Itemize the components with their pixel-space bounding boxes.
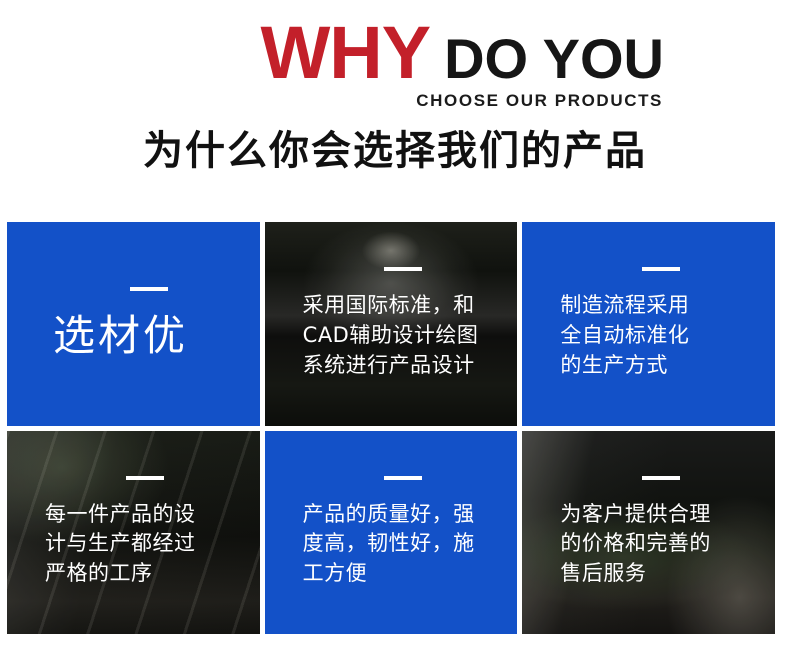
divider-dash-icon (384, 267, 422, 271)
headline-why: WHY (260, 16, 430, 90)
feature-card-process[interactable]: 每一件产品的设 计与生产都经过 严格的工序 (7, 431, 260, 635)
banner-header: WHY DO YOU CHOOSE OUR PRODUCTS 为什么你会选择我们… (0, 0, 790, 212)
divider-dash-icon (126, 476, 164, 480)
feature-card-text: 产品的质量好，强 度高，韧性好，施 工方便 (303, 500, 504, 589)
promo-banner: WHY DO YOU CHOOSE OUR PRODUCTS 为什么你会选择我们… (0, 0, 790, 665)
divider-dash-icon (642, 267, 680, 271)
subtitle-english: CHOOSE OUR PRODUCTS (416, 92, 663, 109)
feature-card-text: 采用国际标准，和 CAD辅助设计绘图 系统进行产品设计 (303, 291, 504, 380)
feature-card-quality[interactable]: 产品的质量好，强 度高，韧性好，施 工方便 (265, 431, 518, 635)
feature-card-text: 选材优 (53, 311, 246, 361)
feature-card-text: 每一件产品的设 计与生产都经过 严格的工序 (45, 500, 246, 589)
divider-dash-icon (130, 287, 168, 291)
feature-card-standard[interactable]: 采用国际标准，和 CAD辅助设计绘图 系统进行产品设计 (265, 222, 518, 426)
feature-card-manufacturing[interactable]: 制造流程采用 全自动标准化 的生产方式 (522, 222, 775, 426)
subtitle-chinese: 为什么你会选择我们的产品 (0, 128, 790, 174)
headline: WHY DO YOU (0, 16, 790, 96)
feature-card-text: 制造流程采用 全自动标准化 的生产方式 (560, 291, 761, 380)
feature-card-material[interactable]: 选材优 (7, 222, 260, 426)
feature-grid: 选材优 采用国际标准，和 CAD辅助设计绘图 系统进行产品设计 制造流程采用 全… (7, 222, 775, 634)
feature-card-text: 为客户提供合理 的价格和完善的 售后服务 (560, 500, 761, 589)
headline-do-you: DO YOU (444, 31, 664, 87)
divider-dash-icon (384, 476, 422, 480)
feature-card-service[interactable]: 为客户提供合理 的价格和完善的 售后服务 (522, 431, 775, 635)
divider-dash-icon (642, 476, 680, 480)
